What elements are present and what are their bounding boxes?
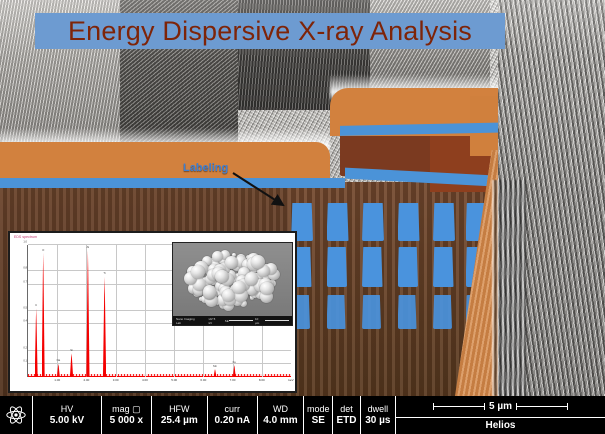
- databar-field-wd: WD4.0 mm: [258, 396, 305, 434]
- atom-icon: [0, 396, 33, 434]
- title-banner: Energy Dispersive X-ray Analysis: [35, 13, 505, 49]
- blue-labeled-tile: [398, 295, 417, 329]
- labeling-annotation-text: Labeling: [183, 162, 228, 174]
- particle-scale-value: 10 µm: [255, 317, 263, 325]
- databar-field-value: 25.4 µm: [161, 415, 198, 426]
- y-axis-tick-label: 0.4: [23, 320, 27, 323]
- y-axis-tick-label: 0.5: [23, 307, 27, 310]
- x-axis-tick-label: keV: [288, 378, 293, 382]
- eds-spectrum-inset: EDS spectrum 1.00.80.70.50.40.20.11.002.…: [8, 231, 297, 393]
- spectrum-peak: [42, 253, 45, 377]
- databar-field-key: curr: [225, 404, 241, 414]
- databar-field-key: HFW: [169, 404, 190, 414]
- databar-field-key: mode: [307, 404, 330, 414]
- databar-right: 5 µm Helios: [396, 396, 605, 434]
- nanoparticle-sphere: [203, 285, 217, 299]
- y-axis-tick-label: 1.0: [23, 241, 27, 244]
- blue-interface-left: [0, 178, 345, 188]
- particle-scalebar: 10 µm: [229, 317, 289, 325]
- peak-label: Si: [70, 348, 73, 352]
- y-axis-tick-label: 0.8: [23, 267, 27, 270]
- blue-labeled-tile: [362, 203, 384, 241]
- nanoparticle-sphere: [215, 270, 229, 284]
- databar-field-key: mag ▢: [112, 404, 141, 414]
- databar-field-key: dwell: [368, 404, 389, 414]
- x-axis-tick-label: 2.00: [84, 378, 90, 382]
- databar-field-value: ETD: [336, 415, 356, 426]
- x-axis-tick-label: 5.00: [171, 378, 177, 382]
- blue-labeled-tile: [327, 247, 348, 287]
- x-axis-tick-label: 4.00: [142, 378, 148, 382]
- peak-label: Ti: [103, 271, 105, 275]
- x-axis-tick-label: 8.00: [259, 378, 265, 382]
- gridline-horizontal: [28, 363, 291, 364]
- databar-field-hfw: HFW25.4 µm: [152, 396, 208, 434]
- blue-labeled-tile: [433, 247, 454, 287]
- databar-field-mode: modeSE: [304, 396, 333, 434]
- y-axis-tick-label: 0.1: [23, 359, 27, 362]
- databar-fields: HV5.00 kVmag ▢5 000 xHFW25.4 µmcurr0.20 …: [0, 396, 396, 434]
- gridline-vertical: [145, 245, 146, 377]
- particle-lab-name: Nano Imaging Lab: [176, 317, 199, 325]
- peak-label: Fe: [233, 360, 236, 364]
- peak-label: Al: [87, 245, 90, 249]
- spectrum-noise: [28, 374, 291, 376]
- peak-label: C: [35, 303, 37, 307]
- databar-field-value: 5.00 kV: [50, 415, 84, 426]
- databar-field-key: WD: [273, 404, 288, 414]
- nanoparticle-agglomerate: [185, 250, 281, 312]
- spectrum-peak: [35, 308, 38, 377]
- peak-label: Na: [57, 358, 61, 362]
- blue-labeled-tile: [398, 203, 420, 241]
- scalebar-value: 5 µm: [489, 401, 512, 412]
- particle-hv: HV 5 kV: [209, 317, 219, 325]
- databar-field-value: 0.20 nA: [215, 415, 251, 426]
- gridline-horizontal: [28, 350, 291, 351]
- particle-inset-databar: Nano Imaging Lab HV 5 kV SE 10 µm: [173, 316, 292, 325]
- page-title: Energy Dispersive X-ray Analysis: [68, 16, 472, 47]
- nanoparticle-sphere: [251, 255, 265, 269]
- atom-icon-svg: [5, 404, 27, 426]
- instrument-databar: HV5.00 kVmag ▢5 000 xHFW25.4 µmcurr0.20 …: [0, 396, 605, 434]
- curtaining-artifact: [492, 180, 526, 396]
- gridline-vertical: [57, 245, 58, 377]
- databar-field-curr: curr0.20 nA: [208, 396, 258, 434]
- nanoparticle-sphere: [225, 256, 238, 269]
- spectrum-peak: [70, 353, 73, 377]
- eds-caption: EDS spectrum: [14, 235, 37, 239]
- blue-labeled-tile: [327, 295, 346, 329]
- nanoparticle-sphere: [191, 265, 205, 279]
- scalebar-box: 5 µm: [396, 396, 605, 418]
- instrument-name: Helios: [396, 417, 605, 434]
- nanoparticle-sphere: [212, 251, 223, 262]
- databar-field-mag: mag ▢5 000 x: [102, 396, 152, 434]
- y-axis-tick-label: 0.7: [23, 280, 27, 283]
- databar-field-value: 4.0 mm: [263, 415, 297, 426]
- databar-field-value: 30 µs: [365, 415, 390, 426]
- x-axis-tick-label: 3.00: [113, 378, 119, 382]
- particle-sem-inset: Nano Imaging Lab HV 5 kV SE 10 µm: [172, 242, 293, 326]
- x-axis-tick-label: 1.00: [54, 378, 60, 382]
- blue-labeled-tile: [362, 295, 381, 329]
- databar-field-value: SE: [312, 415, 325, 426]
- databar-field-hv: HV5.00 kV: [33, 396, 102, 434]
- databar-field-value: 5 000 x: [110, 415, 143, 426]
- nanoparticle-sphere: [245, 272, 259, 286]
- blue-labeled-tile: [327, 203, 349, 241]
- y-axis-tick-label: 0.2: [23, 346, 27, 349]
- peak-label: O: [42, 248, 44, 252]
- screenshot-root: Labeling Energy Dispersive X-ray Analysi…: [0, 0, 605, 434]
- blue-labeled-tile: [362, 247, 383, 287]
- blue-labeled-tile: [433, 203, 455, 241]
- x-axis-tick-label: 6.00: [200, 378, 206, 382]
- blue-labeled-tile: [433, 295, 452, 329]
- x-axis-tick-label: 7.00: [230, 378, 236, 382]
- peak-label: Mn: [213, 364, 217, 368]
- nanoparticle-sphere: [232, 281, 246, 295]
- databar-field-det: detETD: [333, 396, 360, 434]
- blue-labeled-tile: [398, 247, 419, 287]
- gridline-vertical: [116, 245, 117, 377]
- nanoparticle-sphere: [260, 282, 274, 296]
- spectrum-peak: [103, 277, 106, 377]
- databar-field-key: det: [340, 404, 353, 414]
- databar-field-dwell: dwell30 µs: [361, 396, 396, 434]
- databar-field-key: HV: [61, 404, 74, 414]
